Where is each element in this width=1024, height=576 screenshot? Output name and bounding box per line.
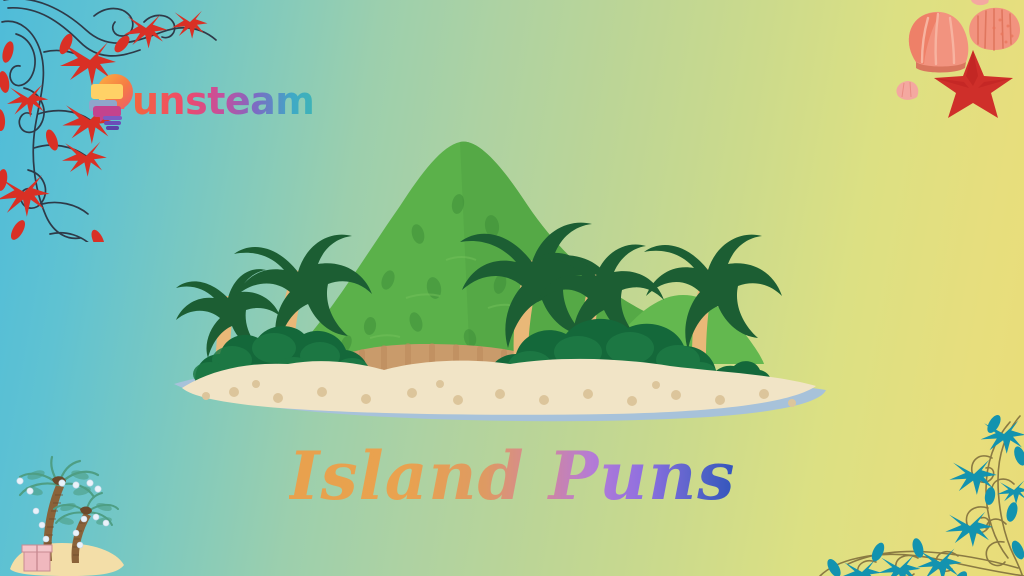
conch-shell-icon [969, 8, 1020, 50]
sand-mound [10, 543, 124, 576]
starfish-icon [934, 50, 1013, 118]
page-title: Island Puns [289, 440, 736, 513]
gift-box-icon [22, 545, 52, 571]
small-shell-icon [896, 81, 918, 100]
top-right-seashells-ornament [874, 0, 1024, 120]
scallop-shell-icon [909, 12, 968, 73]
small-shell-icon [971, 0, 989, 5]
island-puns-banner: { "background": { "gradient_from": "#4FB… [0, 0, 1024, 576]
page-title-wrapper: Island Puns [0, 440, 1024, 513]
tropical-island-illustration [170, 108, 830, 428]
sandy-beach [182, 359, 816, 415]
